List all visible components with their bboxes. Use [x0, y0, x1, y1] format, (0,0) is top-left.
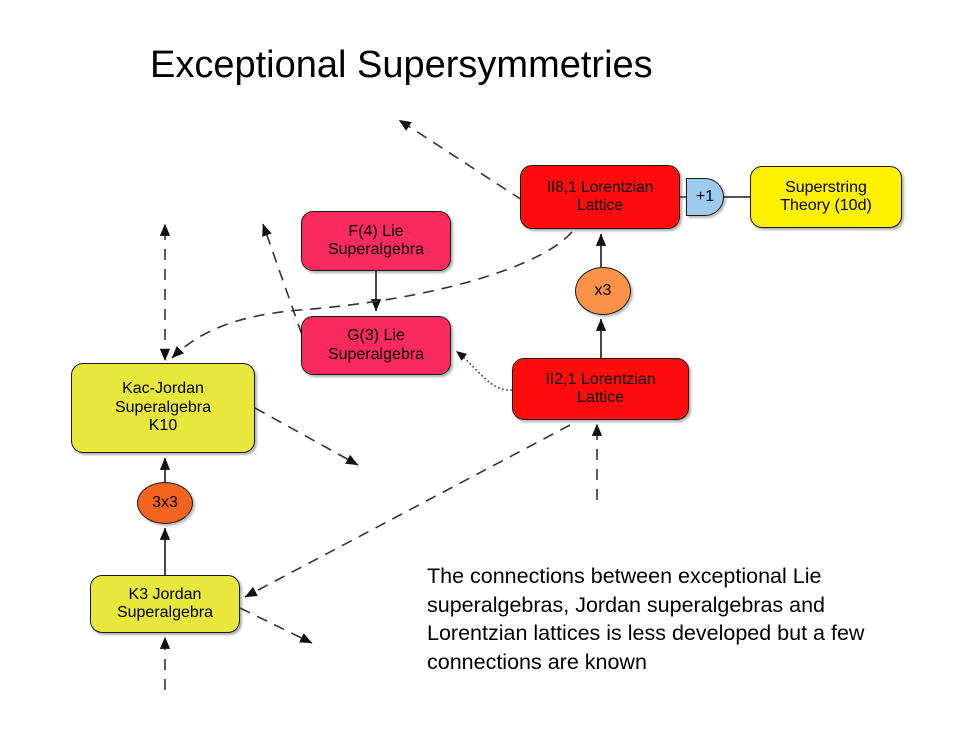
node-kac-jordan-superalgebra-k10[interactable]: Kac-Jordan Superalgebra K10	[71, 363, 255, 453]
page-title: Exceptional Supersymmetries	[150, 44, 750, 87]
node-k3-jordan-superalgebra[interactable]: K3 Jordan Superalgebra	[90, 575, 240, 633]
node-x3-multiplier[interactable]: x3	[575, 267, 631, 315]
diagram-canvas: Exceptional Supersymmetries	[0, 0, 960, 750]
edge-k3jordan-to-lower-right-dashed	[240, 608, 312, 643]
node-plus-one-operator[interactable]: +1	[686, 178, 724, 216]
diagram-caption: The connections between exceptional Lie …	[427, 562, 917, 676]
node-ii2-1-lorentzian-lattice[interactable]: II2,1 Lorentzian Lattice	[512, 358, 689, 420]
node-3x3-multiplier[interactable]: 3x3	[137, 482, 193, 524]
edge-kacjordan-to-lower-right-dashed	[255, 408, 358, 465]
edge-ii21-to-g3-dotted	[456, 351, 512, 390]
node-ii8-1-lorentzian-lattice[interactable]: II8,1 Lorentzian Lattice	[520, 165, 680, 229]
edge-ii81-to-upper-left-dashed	[399, 120, 522, 200]
node-f4-lie-superalgebra[interactable]: F(4) Lie Superalgebra	[301, 211, 451, 271]
node-superstring-theory-10d[interactable]: Superstring Theory (10d)	[750, 166, 902, 228]
node-g3-lie-superalgebra[interactable]: G(3) Lie Superalgebra	[301, 316, 451, 375]
